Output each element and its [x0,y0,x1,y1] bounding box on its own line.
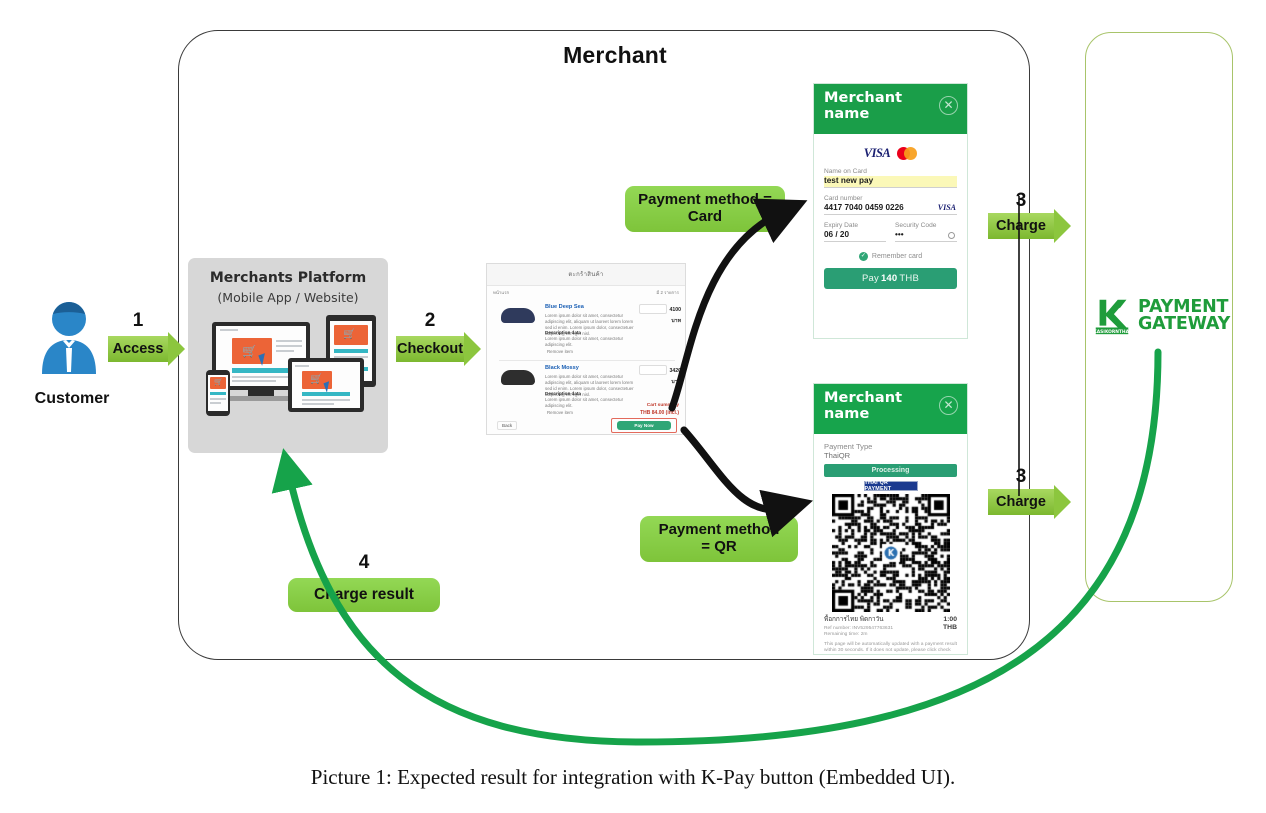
product-spec-value: Lorem ipsum dolor sit amet, consectetur … [545,336,637,348]
back-button[interactable]: Back [497,421,517,430]
platform-subtitle: (Mobile App / Website) [188,290,388,305]
card-pay-amount: 140 [881,273,897,284]
checkout-breadcrumb: หน้าแรก [493,290,509,296]
arrow-right-icon: Access [108,336,168,362]
kasikornthai-k-icon: KASIKORNTHAI [1090,294,1134,338]
product-qty: 4100 [649,307,681,313]
processing-status-bar: Processing [824,464,957,477]
callout-payment-method-card: Payment method = Card [625,186,785,232]
qr-currency: THB [943,624,957,631]
security-code-field[interactable]: Security Code ••• [895,222,957,242]
cart-summary-label: Cart summary [597,403,679,408]
arrow-charge-card-label: Charge [996,218,1046,234]
product-name: Black Mossy [545,365,579,371]
card-merchant-line2: name [824,107,957,123]
remove-item-link[interactable]: Remove item [547,349,573,355]
callout-card-line1: Payment method = [638,192,772,209]
cart-summary-value: THB 84.00 (incl.) [597,410,679,416]
name-on-card-label: Name on Card [824,168,957,175]
card-brand-row: VISA [824,145,957,161]
arrow-checkout: Checkout [388,336,472,362]
remember-card-row[interactable]: ✓ Remember card [824,252,957,261]
qr-merchant-line1: Merchant [824,391,957,407]
card-panel-merchant-name: Merchant name [824,91,957,122]
arrow-right-icon: Charge [988,489,1054,515]
qr-panel-header: Merchant name ✕ [814,384,967,434]
arrow-charge-qr: Charge [980,489,1062,515]
product-price: บาท [649,378,681,386]
checkout-page-title: ตะกร้าสินค้า [487,269,685,279]
product-price: บาท [649,317,681,325]
arrow-charge-card: Charge [980,213,1062,239]
figure-caption: Picture 1: Expected result for integrati… [0,765,1266,790]
callout-payment-method-qr: Payment method = QR [640,516,798,562]
card-pay-currency: THB [899,273,919,284]
expiry-date-label: Expiry Date [824,222,886,229]
kasikorn-payment-gateway-logo: KASIKORNTHAI PAYMENT GATEWAY [1085,285,1235,347]
remove-item-link[interactable]: Remove item [547,410,573,416]
product-spec-label: Description data [545,330,581,335]
eye-icon[interactable] [948,232,955,239]
qr-code-icon [832,494,950,612]
card-number-label: Card number [824,195,957,202]
close-circle-icon[interactable]: ✕ [939,96,958,115]
product-qty: 3420 [649,368,681,374]
customer-label: Customer [14,390,130,408]
callout-qr-line2: = QR [659,539,780,556]
arrow-right-icon: Checkout [396,336,464,362]
product-spec-label: Description data [545,391,581,396]
card-expiry-cvv-row: Expiry Date 06 / 20 Security Code ••• [824,222,957,249]
name-on-card-field[interactable]: Name on Card test new pay [824,168,957,188]
check-icon: ✓ [859,252,868,261]
pay-now-button[interactable]: Pay Now [617,421,671,430]
qr-status-note: This page will be automatically updated … [824,642,957,655]
product-thumb [501,308,535,323]
gateway-wordmark: PAYMENT GATEWAY [1138,299,1230,333]
qr-footer: พื้อกการไทย พิดกาวัน 1:00 Ref number: IN… [824,614,957,655]
qr-panel-merchant-name: Merchant name [824,391,957,422]
checkout-page-screenshot: ตะกร้าสินค้า หน้าแรก มี 2 รายการ Blue De… [486,263,686,435]
step-3-number-qr: 3 [980,466,1062,488]
security-code-label: Security Code [895,222,957,229]
svg-text:KASIKORNTHAI: KASIKORNTHAI [1093,329,1131,335]
card-panel-body: VISA Name on Card test new pay Card numb… [814,134,967,299]
merchants-platform-card: Merchants Platform (Mobile App / Website… [188,258,388,453]
card-merchant-line1: Merchant [824,91,957,107]
expiry-date-field[interactable]: Expiry Date 06 / 20 [824,222,886,242]
divider [499,360,675,361]
arrow-right-icon: Charge [988,213,1054,239]
arrow-checkout-label: Checkout [397,341,463,357]
platform-title: Merchants Platform [188,270,388,286]
card-number-field[interactable]: Card number 4417 7040 0459 0226 VISA [824,195,957,215]
qr-payment-panel: Merchant name ✕ Payment Type ThaiQR Proc… [813,383,968,655]
arrow-access: Access [100,336,176,362]
remember-card-label: Remember card [872,253,922,260]
visa-logo-icon: VISA [864,146,891,161]
close-circle-icon[interactable]: ✕ [939,396,958,415]
expiry-date-value: 06 / 20 [824,230,886,242]
payment-type-label: Payment Type [824,442,957,451]
customer-person-icon [38,300,100,378]
payment-type-value: ThaiQR [824,451,957,460]
arrow-charge-qr-label: Charge [996,494,1046,510]
step-1-number: 1 [100,310,176,332]
card-pay-button[interactable]: Pay 140 THB [824,268,957,289]
qr-timer: 1:00 [943,616,957,623]
step-3-number-card: 3 [980,190,1062,212]
gateway-word-line2: GATEWAY [1138,316,1230,333]
qr-remaining-line: Remaining time: 2m [824,632,957,638]
card-panel-header: Merchant name ✕ [814,84,967,134]
qr-bank-line: พื้อกการไทย พิดกาวัน [824,614,884,624]
arrow-access-label: Access [113,341,164,357]
product-thumb [501,370,535,385]
qr-panel-body: Payment Type ThaiQR Processing THAI QR P… [814,434,967,655]
thai-qr-badge-icon: THAI QR PAYMENT [864,481,918,491]
mastercard-logo-icon [897,147,917,160]
visa-inline-icon: VISA [938,203,956,212]
card-pay-prefix: Pay [862,273,879,284]
name-on-card-value: test new pay [824,176,957,188]
product-name: Blue Deep Sea [545,304,584,310]
merchant-title: Merchant [455,42,775,69]
diagram-canvas: Merchant KASIKORNTHAI PAYMENT GATEWAY Cu… [0,0,1266,813]
callout-charge-result: Charge result [288,578,440,612]
callout-qr-line1: Payment method [659,522,780,539]
checkout-item-count: มี 2 รายการ [656,290,679,296]
qr-merchant-line2: name [824,407,957,423]
step-2-number: 2 [388,310,472,332]
card-payment-panel: Merchant name ✕ VISA Name on Card test n… [813,83,968,339]
step-4-number: 4 [288,552,440,574]
callout-card-line2: Card [638,209,772,226]
